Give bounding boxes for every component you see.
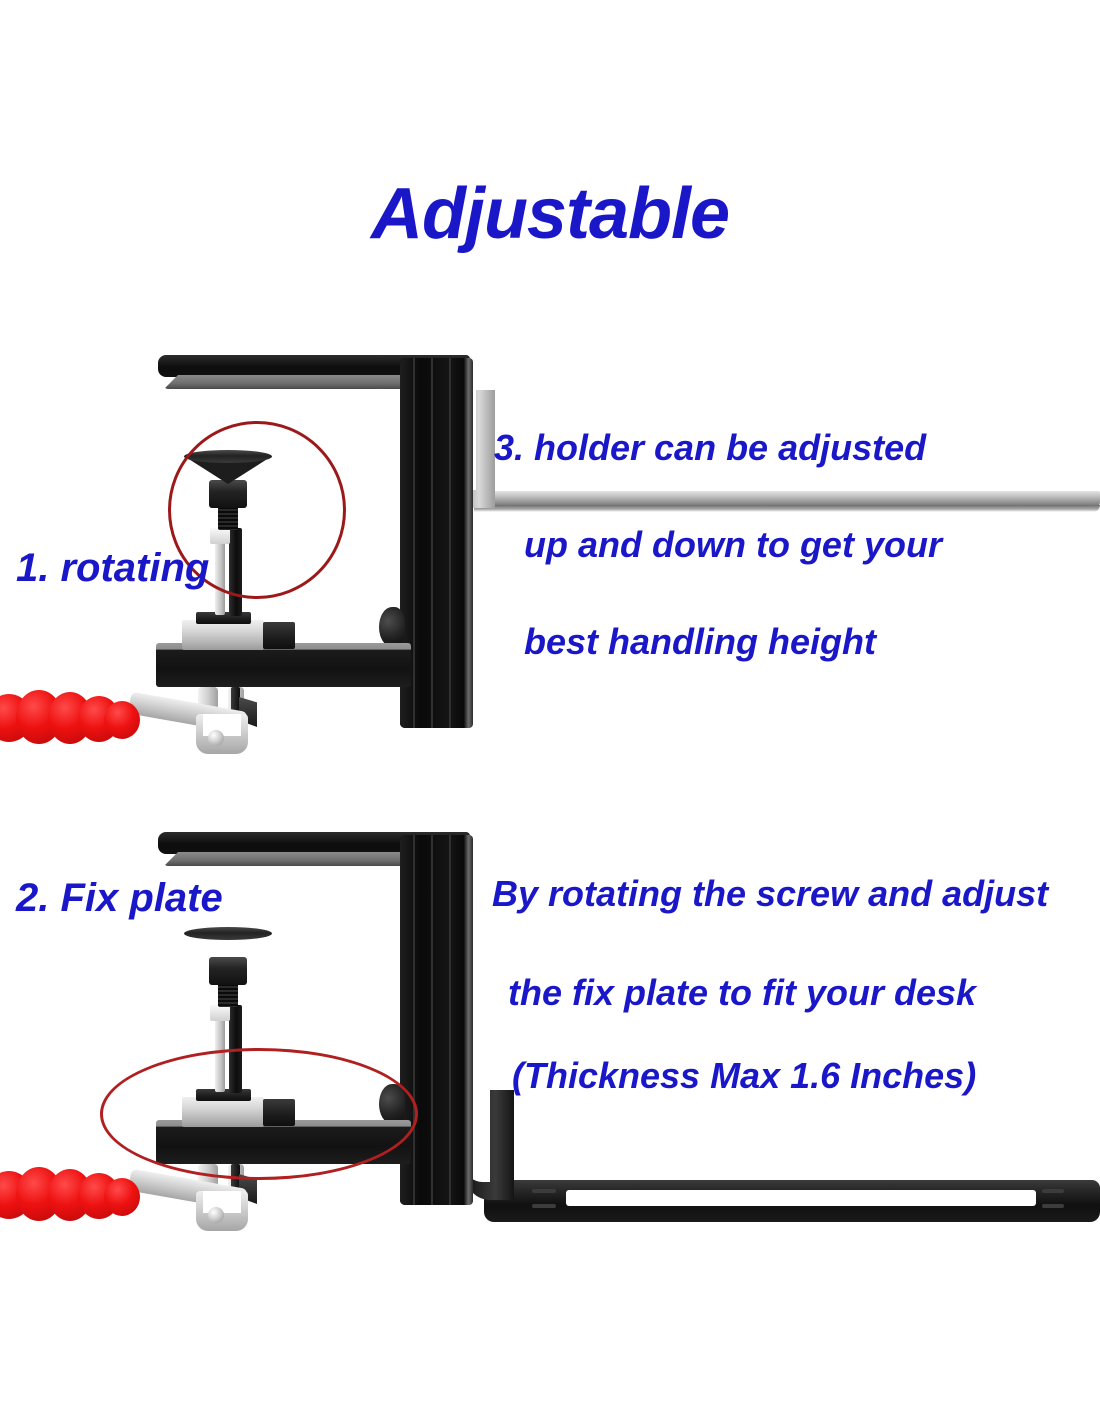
holder-tray-opening xyxy=(566,1190,1036,1206)
panel-top-callout-line-1: 3. holder can be adjusted xyxy=(494,430,926,466)
screw-thread-2 xyxy=(218,982,238,1007)
holder-blade-shadow xyxy=(474,505,1100,512)
red-grip-handle-icon xyxy=(0,688,140,750)
panel-bottom-callout-line-3: (Thickness Max 1.6 Inches) xyxy=(512,1058,976,1094)
crank-pivot-rivet xyxy=(208,730,224,746)
tray-hole-left-2 xyxy=(532,1204,556,1208)
panel-top-label: 1. rotating xyxy=(16,546,209,591)
tray-hole-right-2 xyxy=(1042,1204,1064,1208)
post-right-edge xyxy=(464,358,473,728)
panel-bottom-callout-line-2: the fix plate to fit your desk xyxy=(508,975,976,1011)
panel-bottom-label: 2. Fix plate xyxy=(16,876,223,921)
tray-hole-left-1 xyxy=(532,1189,556,1193)
screw-block-dark xyxy=(263,622,295,649)
screw-collar-2 xyxy=(210,1005,230,1021)
page-title: Adjustable xyxy=(0,178,1100,250)
cone-pad-rim-2 xyxy=(184,927,272,940)
post-pivot-knob xyxy=(379,607,405,647)
ellipse-highlight-icon xyxy=(100,1048,418,1180)
infographic-canvas: Adjustable xyxy=(0,0,1100,1422)
panel-top-callout-line-3: best handling height xyxy=(524,624,876,660)
tray-hole-right-1 xyxy=(1042,1189,1064,1193)
post-right-edge-2 xyxy=(464,835,473,1205)
crank-pivot-rivet-2 xyxy=(208,1207,224,1223)
panel-top-callout-line-2: up and down to get your xyxy=(524,527,942,563)
screw-hex-nut-2 xyxy=(209,957,247,985)
panel-bottom-callout-line-1: By rotating the screw and adjust xyxy=(492,876,1048,912)
red-grip-handle-icon-2 xyxy=(0,1165,140,1227)
screw-block-silver xyxy=(182,620,264,650)
